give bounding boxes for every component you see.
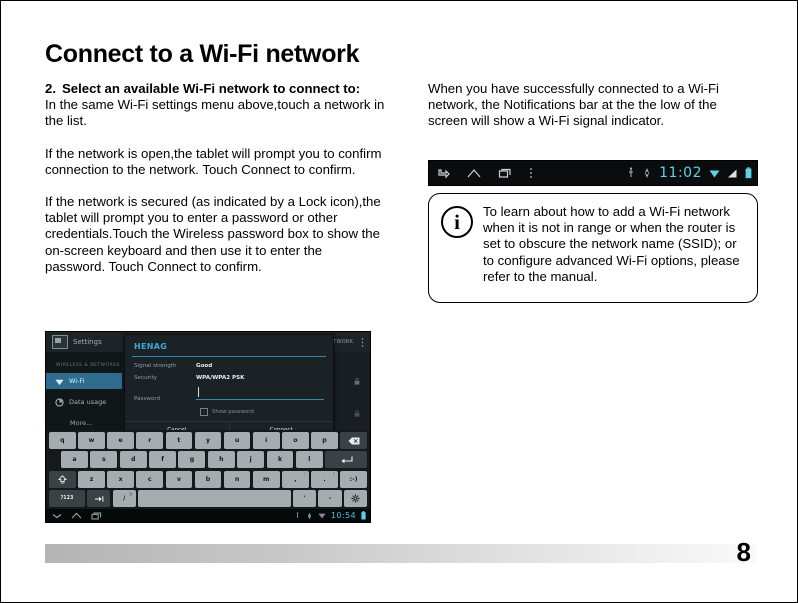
dialog-row-password: Password (134, 387, 324, 402)
key-o[interactable]: o (282, 432, 309, 449)
wifi-icon (318, 512, 326, 519)
dialog-body: Signal strength Good Security WPA/WPA2 P… (125, 357, 333, 418)
backspace-glyph (348, 437, 360, 445)
show-password-label: Show password (212, 409, 254, 415)
left-paragraph-3: If the network is secured (as indicated … (45, 194, 385, 275)
security-label: Security (134, 375, 196, 381)
key-slash[interactable]: / (113, 490, 136, 507)
key-j[interactable]: j (237, 451, 264, 468)
sidebar-section-label: WIRELESS & NETWORKS (56, 363, 124, 368)
key-symbols[interactable]: ?123 (49, 490, 85, 507)
key-d[interactable]: d (120, 451, 147, 468)
key-z[interactable]: z (78, 471, 105, 488)
home-icon[interactable] (71, 512, 82, 519)
sidebar-item-data-usage[interactable]: Data usage (46, 394, 124, 410)
signal-strength-label: Signal strength (134, 363, 196, 369)
show-password-checkbox[interactable] (200, 408, 208, 416)
tab-icon[interactable] (87, 490, 110, 507)
key-n[interactable]: n (224, 471, 251, 488)
notification-bar-left-icons (429, 167, 533, 179)
keyboard-row-2: a s d f g h j k l (49, 451, 367, 468)
step-heading: 2.Select an available Wi-Fi network to c… (45, 81, 385, 97)
tablet-screenshot-figure: WIRELESS & NETWORKS Wi-Fi Data usage Mor… (45, 331, 371, 523)
keyboard-row-1: q w e r t y u i o p (49, 432, 367, 449)
key-i[interactable]: i (253, 432, 280, 449)
dialog-title: HENAG (125, 335, 333, 356)
battery-icon (361, 511, 366, 520)
key-t[interactable]: t (166, 432, 193, 449)
data-usage-icon (55, 398, 64, 407)
battery-icon (745, 167, 752, 179)
enter-glyph (340, 456, 353, 464)
usb-icon (294, 512, 301, 519)
lock-icon (354, 410, 360, 417)
notification-bar-clock: 11:02 (659, 166, 702, 180)
dialog-row-security: Security WPA/WPA2 PSK (134, 375, 324, 381)
keyboard-row-4: ?123 / ' - (49, 490, 367, 507)
key-k[interactable]: k (267, 451, 294, 468)
paragraph-gap (45, 130, 385, 146)
tablet-clock: 10:54 (331, 511, 356, 520)
manual-page: Connect to a Wi-Fi network 2.Select an a… (0, 0, 798, 603)
key-w[interactable]: w (78, 432, 105, 449)
overflow-menu-icon[interactable] (361, 338, 364, 347)
signal-strength-value: Good (196, 363, 212, 369)
wifi-signal-icon (709, 168, 720, 179)
key-l[interactable]: l (296, 451, 323, 468)
nav-right-icons: 10:54 (294, 511, 370, 520)
sidebar-item-wifi[interactable]: Wi-Fi (46, 373, 124, 389)
right-paragraph-1: When you have successfully connected to … (428, 81, 758, 130)
key-v[interactable]: v (166, 471, 193, 488)
key-a[interactable]: a (61, 451, 88, 468)
settings-app-icon (52, 335, 68, 349)
key-u[interactable]: u (224, 432, 251, 449)
onscreen-keyboard: q w e r t y u i o p a s (46, 430, 370, 509)
sidebar-item-label: Data usage (69, 398, 106, 406)
key-q[interactable]: q (49, 432, 76, 449)
shift-icon[interactable] (49, 471, 76, 488)
key-c[interactable]: c (136, 471, 163, 488)
password-input[interactable] (196, 387, 324, 400)
keyboard-row-3: z x c v b n m , . :-) (49, 471, 367, 488)
key-e[interactable]: e (107, 432, 134, 449)
hide-keyboard-icon[interactable] (52, 513, 62, 519)
page-number: 8 (737, 539, 751, 565)
key-apostrophe[interactable]: ' (293, 490, 316, 507)
sidebar-item-label: Wi-Fi (69, 377, 85, 385)
recents-icon[interactable] (91, 512, 102, 520)
key-m[interactable]: m (253, 471, 280, 488)
key-g[interactable]: g (178, 451, 205, 468)
key-emoji[interactable]: :-) (340, 471, 367, 488)
sidebar-more-label[interactable]: More... (70, 419, 124, 427)
info-callout-box: i To learn about how to add a Wi-Fi netw… (428, 193, 758, 303)
left-column: 2.Select an available Wi-Fi network to c… (45, 81, 385, 275)
key-x[interactable]: x (107, 471, 134, 488)
right-column: When you have successfully connected to … (428, 81, 758, 130)
left-paragraph-2: If the network is open,the tablet will p… (45, 146, 385, 178)
paragraph-gap (45, 178, 385, 194)
step-number: 2. (45, 81, 56, 96)
dialog-row-signal-strength: Signal strength Good (134, 363, 324, 369)
shift-glyph (58, 475, 67, 484)
back-icon (437, 168, 450, 179)
text-caret (198, 387, 199, 397)
lock-icon (354, 378, 360, 385)
signal-bars-icon (727, 168, 738, 179)
notification-bar-figure: 11:02 (428, 160, 758, 186)
step-title: Select an available Wi-Fi network to con… (62, 81, 360, 96)
key-f[interactable]: f (149, 451, 176, 468)
key-b[interactable]: b (195, 471, 222, 488)
usb-icon (627, 167, 635, 179)
nav-left-icons (46, 512, 102, 520)
left-paragraph-1: In the same Wi-Fi settings menu above,to… (45, 97, 385, 129)
keyboard-settings-icon[interactable] (344, 490, 367, 507)
key-y[interactable]: y (195, 432, 222, 449)
key-p[interactable]: p (311, 432, 338, 449)
password-label: Password (134, 396, 196, 402)
footer-gradient-bar (45, 544, 756, 563)
key-dash[interactable]: - (318, 490, 341, 507)
menu-icon (529, 167, 533, 179)
key-space[interactable] (138, 490, 290, 507)
settings-title: Settings (73, 338, 102, 346)
keyboard-settings-glyph (351, 494, 360, 503)
key-h[interactable]: h (208, 451, 235, 468)
wifi-password-dialog: HENAG Signal strength Good Security WPA/… (124, 334, 334, 440)
backspace-icon[interactable] (340, 432, 367, 449)
key-r[interactable]: r (136, 432, 163, 449)
key-comma[interactable]: , (282, 471, 309, 488)
gps-icon (306, 512, 313, 520)
wifi-icon (55, 377, 64, 386)
key-period[interactable]: . (311, 471, 338, 488)
gps-icon (642, 167, 652, 179)
tablet-nav-bar: 10:54 (46, 509, 370, 522)
recents-icon (498, 168, 512, 179)
info-callout-text: To learn about how to add a Wi-Fi networ… (483, 204, 747, 292)
notification-bar-status-icons: 11:02 (627, 166, 757, 180)
info-icon: i (441, 206, 473, 238)
key-s[interactable]: s (90, 451, 117, 468)
home-icon (467, 168, 481, 179)
enter-icon[interactable] (325, 451, 367, 468)
tab-glyph (94, 495, 104, 503)
page-title: Connect to a Wi-Fi network (45, 39, 359, 69)
security-value: WPA/WPA2 PSK (196, 375, 245, 381)
show-password-checkbox-row[interactable]: Show password (200, 408, 324, 416)
